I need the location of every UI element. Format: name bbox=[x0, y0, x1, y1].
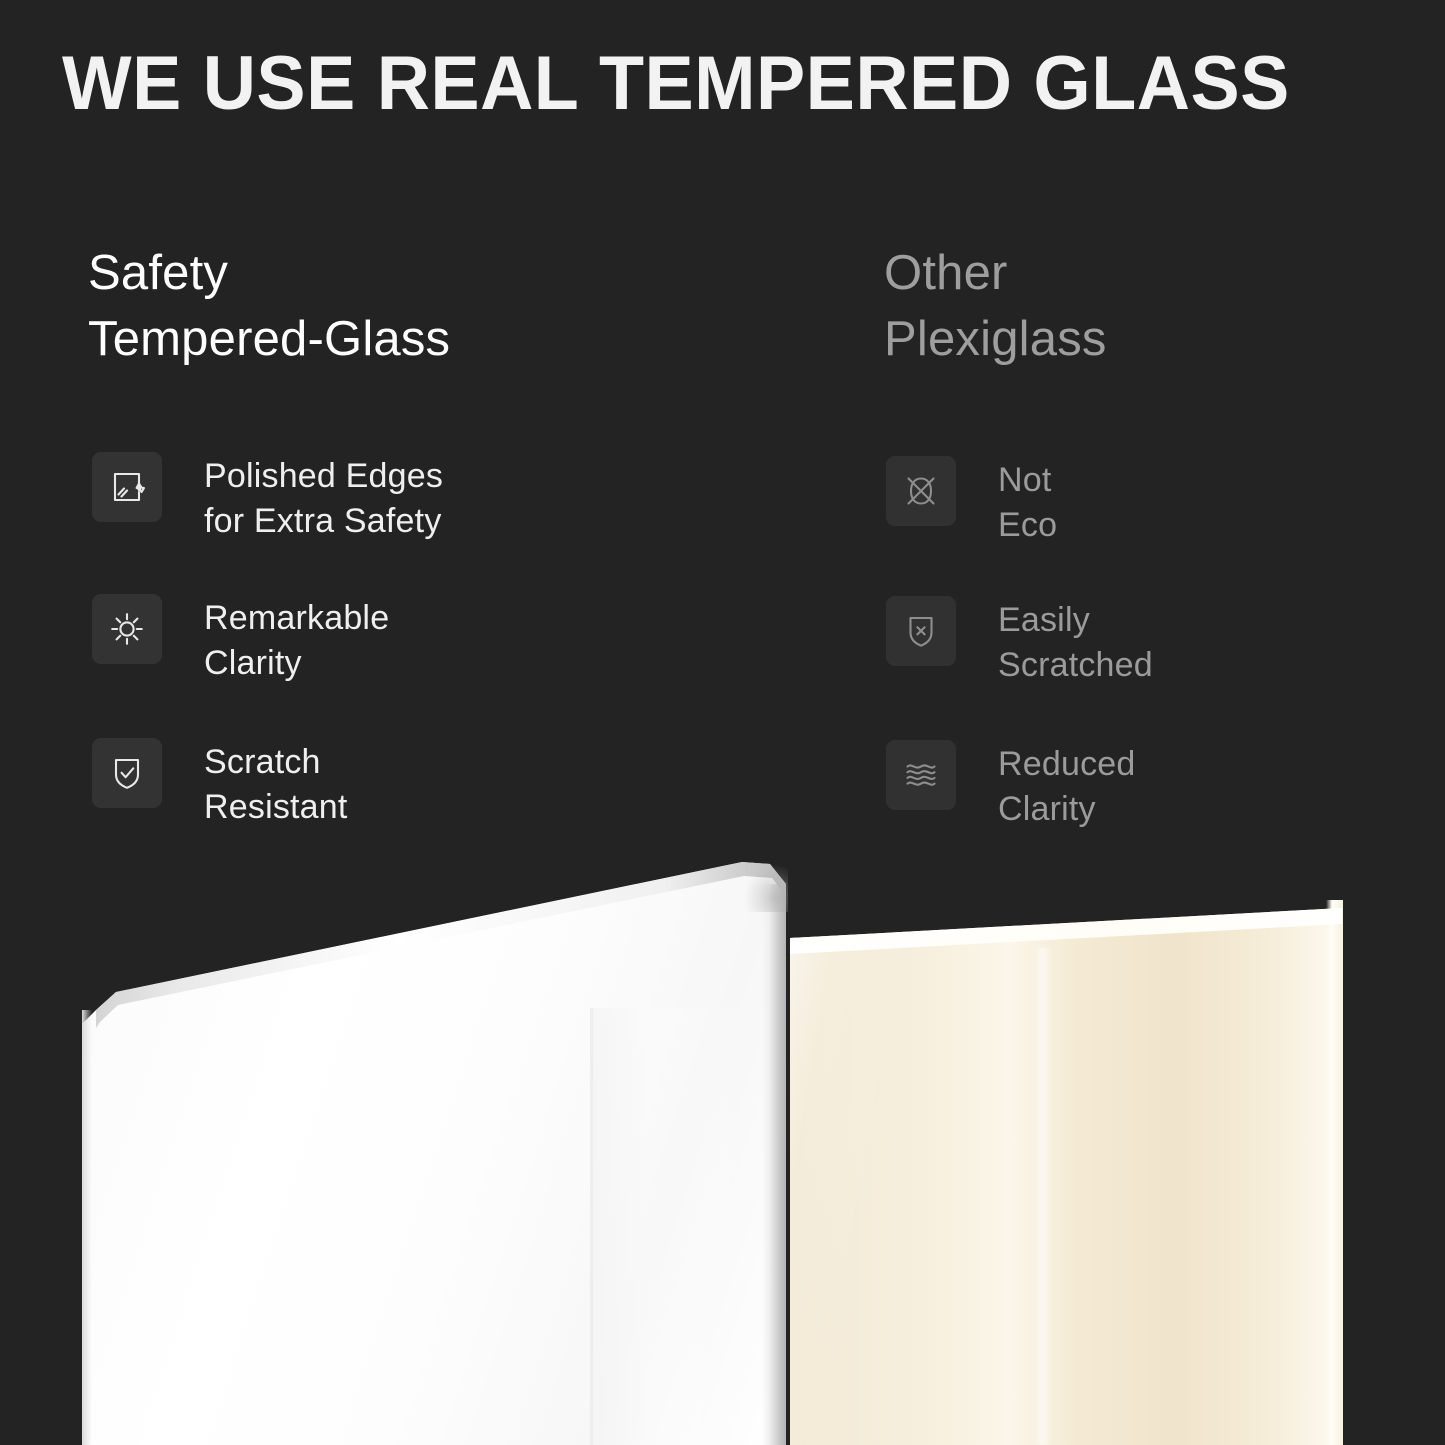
feature-line1: Scratch bbox=[204, 740, 348, 785]
feature-line1: Not bbox=[998, 458, 1057, 503]
feature-line2: Clarity bbox=[204, 641, 389, 686]
feature-row: Scratch Resistant bbox=[92, 738, 348, 830]
column-heading-line1: Other bbox=[884, 240, 1107, 306]
column-heading-line2: Tempered-Glass bbox=[88, 306, 450, 372]
feature-label: Reduced Clarity bbox=[998, 740, 1136, 832]
plexiglass-seam-highlight bbox=[1035, 948, 1051, 1445]
shield-x-icon bbox=[886, 596, 956, 666]
feature-label: Polished Edges for Extra Safety bbox=[204, 452, 443, 544]
feature-line1: Remarkable bbox=[204, 596, 389, 641]
feature-line1: Easily bbox=[998, 598, 1153, 643]
tempered-glass-left-bevel bbox=[82, 1010, 92, 1445]
tempered-glass-inner-reflection bbox=[592, 1008, 786, 1445]
feature-label: Scratch Resistant bbox=[204, 738, 348, 830]
feature-row: Not Eco bbox=[886, 456, 1057, 548]
feature-label: Remarkable Clarity bbox=[204, 594, 389, 686]
tempered-glass-right-bevel bbox=[762, 884, 786, 1445]
feature-row: Reduced Clarity bbox=[886, 740, 1136, 832]
plexiglass-panel bbox=[790, 908, 1342, 1445]
column-heading-line1: Safety bbox=[88, 240, 450, 306]
comparison-infographic: WE USE REAL TEMPERED GLASS Safety Temper… bbox=[0, 0, 1445, 1445]
product-panels bbox=[0, 830, 1445, 1445]
feature-row: Polished Edges for Extra Safety bbox=[92, 452, 443, 544]
feature-label: Easily Scratched bbox=[998, 596, 1153, 688]
tempered-glass-corner-gloss bbox=[744, 864, 788, 912]
page-title: WE USE REAL TEMPERED GLASS bbox=[62, 38, 1352, 130]
glass-panel-sparkle-icon bbox=[92, 452, 162, 522]
column-heading-line2: Plexiglass bbox=[884, 306, 1107, 372]
column-heading-tempered: Safety Tempered-Glass bbox=[88, 240, 450, 372]
shield-check-icon bbox=[92, 738, 162, 808]
feature-label: Not Eco bbox=[998, 456, 1057, 548]
feature-line2: Clarity bbox=[998, 787, 1136, 832]
feature-row: Easily Scratched bbox=[886, 596, 1153, 688]
feature-line2: for Extra Safety bbox=[204, 499, 443, 544]
column-heading-plexiglass: Other Plexiglass bbox=[884, 240, 1107, 372]
leaf-crossed-out-icon bbox=[886, 456, 956, 526]
plexiglass-right-edge bbox=[1326, 900, 1343, 1445]
wavy-lines-icon bbox=[886, 740, 956, 810]
feature-line1: Polished Edges bbox=[204, 454, 443, 499]
feature-row: Remarkable Clarity bbox=[92, 594, 389, 686]
feature-line2: Scratched bbox=[998, 643, 1153, 688]
sun-brightness-icon bbox=[92, 594, 162, 664]
feature-line1: Reduced bbox=[998, 742, 1136, 787]
feature-line2: Eco bbox=[998, 503, 1057, 548]
feature-line2: Resistant bbox=[204, 785, 348, 830]
tempered-glass-inner-edge bbox=[590, 1008, 593, 1445]
